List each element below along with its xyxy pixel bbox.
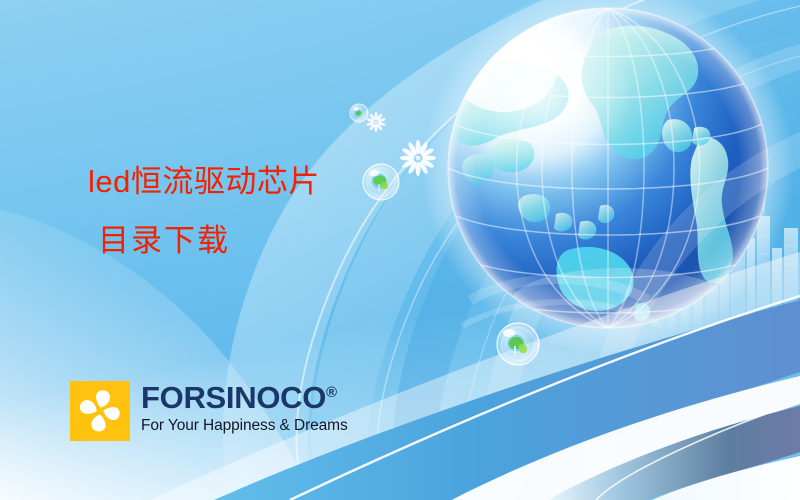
registered-trademark-symbol: ® [326, 384, 337, 401]
bubble-topleft [350, 104, 368, 122]
logo-wordmark-text: FORSINOCO [141, 380, 326, 415]
logo-wordmark: FORSINOCO® [141, 382, 348, 413]
logo-tagline: For Your Happiness & Dreams [141, 417, 348, 435]
headline-block: led恒流驱动芯片 目录下载 [88, 166, 508, 256]
logo-text-group: FORSINOCO® For Your Happiness & Dreams [141, 381, 348, 435]
company-logo[interactable]: FORSINOCO® For Your Happiness & Dreams [70, 381, 348, 441]
slide-canvas: led恒流驱动芯片 目录下载 FORSINOCO® For [0, 0, 800, 500]
four-petal-pinwheel-icon [70, 381, 130, 441]
headline-line-1: led恒流驱动芯片 [88, 166, 508, 197]
headline-line-2: 目录下载 [98, 225, 508, 256]
bubble-lower [497, 323, 539, 365]
